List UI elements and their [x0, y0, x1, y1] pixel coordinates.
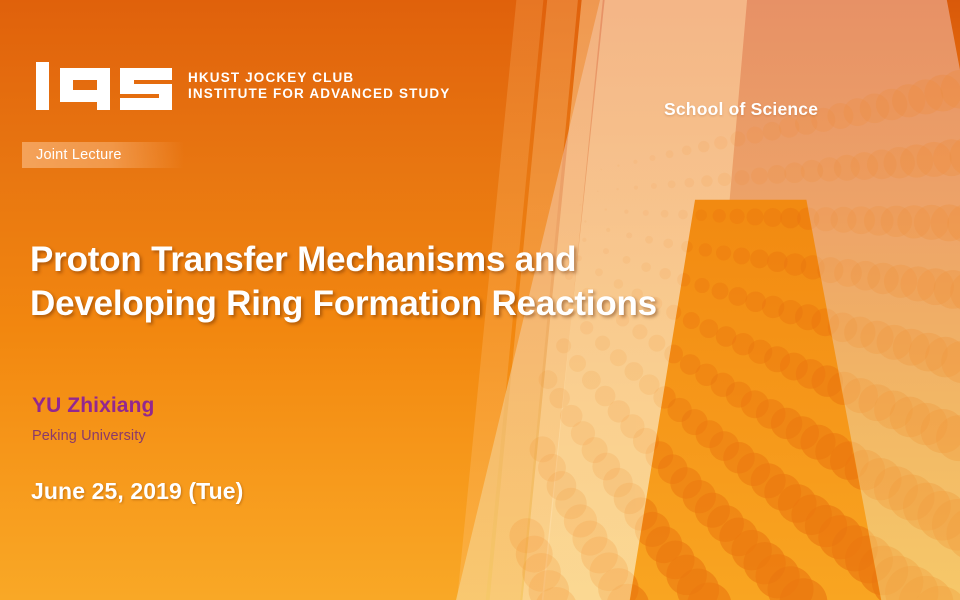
ias-logo-subtitle: HKUST JOCKEY CLUB INSTITUTE FOR ADVANCED… [188, 70, 450, 102]
poster-content: HKUST JOCKEY CLUB INSTITUTE FOR ADVANCED… [0, 0, 960, 600]
logo-subtitle-line1: HKUST JOCKEY CLUB [188, 70, 450, 86]
lecture-date: June 25, 2019 (Tue) [31, 478, 243, 505]
ias-logo-icon [34, 58, 174, 114]
joint-lecture-badge: Joint Lecture [22, 142, 184, 168]
logo-subtitle-line2: INSTITUTE FOR ADVANCED STUDY [188, 86, 450, 102]
joint-lecture-badge-label: Joint Lecture [22, 147, 122, 163]
school-of-science-label: School of Science [664, 99, 818, 120]
lecture-title-line2: Developing Ring Formation Reactions [30, 282, 890, 326]
lecture-title: Proton Transfer Mechanisms and Developin… [30, 238, 890, 326]
lecture-poster: HKUST JOCKEY CLUB INSTITUTE FOR ADVANCED… [0, 0, 960, 600]
speaker-affiliation: Peking University [32, 428, 146, 444]
speaker-name: YU Zhixiang [32, 394, 154, 418]
lecture-title-line1: Proton Transfer Mechanisms and [30, 240, 576, 279]
ias-logo-block: HKUST JOCKEY CLUB INSTITUTE FOR ADVANCED… [34, 58, 450, 114]
